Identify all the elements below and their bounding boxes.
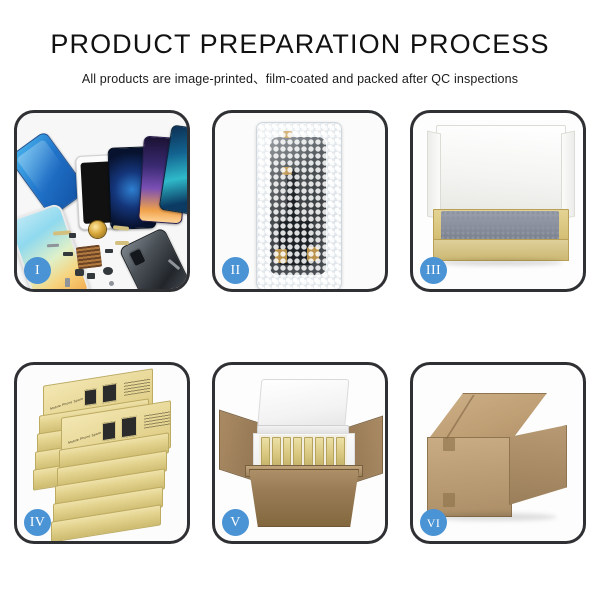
screw-part	[65, 278, 70, 287]
carton-tape	[443, 437, 455, 451]
step-badge-1: I	[24, 257, 51, 284]
screwdriver-part	[47, 244, 59, 248]
camera-part	[103, 267, 113, 275]
step-badge-6: VI	[420, 509, 447, 536]
step-badge-5: V	[222, 509, 249, 536]
speaker-grille-part	[89, 221, 106, 238]
bubble-wrap-bag	[256, 122, 342, 289]
step-panel-3: III	[410, 110, 586, 292]
chip-part	[75, 269, 84, 276]
step-panel-2: II	[212, 110, 388, 292]
box-text-lines	[144, 410, 170, 428]
step-panel-4: Mobile Phone Spare Parts Mobile Phone Sp…	[14, 362, 190, 544]
box-window	[102, 421, 116, 441]
box-window	[102, 383, 117, 403]
flex-cable-part	[115, 241, 129, 245]
page-title: PRODUCT PREPARATION PROCESS	[0, 30, 600, 58]
foam-padding	[441, 211, 559, 241]
step-panel-6: VI	[410, 362, 586, 544]
step-badge-3: III	[420, 257, 447, 284]
flex-cable	[287, 169, 298, 221]
chip-part	[69, 233, 76, 238]
bracket-part	[63, 252, 73, 256]
gold-connector	[282, 167, 292, 175]
process-steps-grid: I II	[14, 110, 586, 544]
step-badge-2: II	[222, 257, 249, 284]
box-window	[84, 388, 97, 406]
gold-connector	[307, 247, 319, 261]
product-preparation-infographic: PRODUCT PREPARATION PROCESS All products…	[0, 0, 600, 600]
bracket-part	[105, 249, 113, 253]
box-text-lines	[124, 378, 150, 396]
box-window	[121, 416, 137, 439]
chip-part	[87, 273, 95, 279]
gold-connector	[275, 249, 287, 263]
flex-cable-part	[113, 225, 129, 231]
carton-shadow	[433, 513, 557, 521]
gold-connector	[283, 131, 292, 138]
phone-back-housing	[118, 227, 187, 289]
box-shadow	[437, 259, 563, 266]
carton-front-face	[427, 437, 512, 517]
carton-base	[249, 469, 359, 527]
step-panel-5: V	[212, 362, 388, 544]
carton-side-face	[509, 425, 567, 505]
page-subtitle: All products are image-printed、film-coat…	[0, 68, 600, 87]
header: PRODUCT PREPARATION PROCESS All products…	[0, 0, 600, 87]
box-lid	[436, 125, 566, 219]
step-panel-1: I	[14, 110, 190, 292]
box-front-panel	[433, 239, 569, 261]
step-badge-4: IV	[24, 509, 51, 536]
screw-part	[109, 281, 114, 286]
circuit-board-part	[76, 245, 103, 270]
carton-tape	[443, 493, 455, 507]
